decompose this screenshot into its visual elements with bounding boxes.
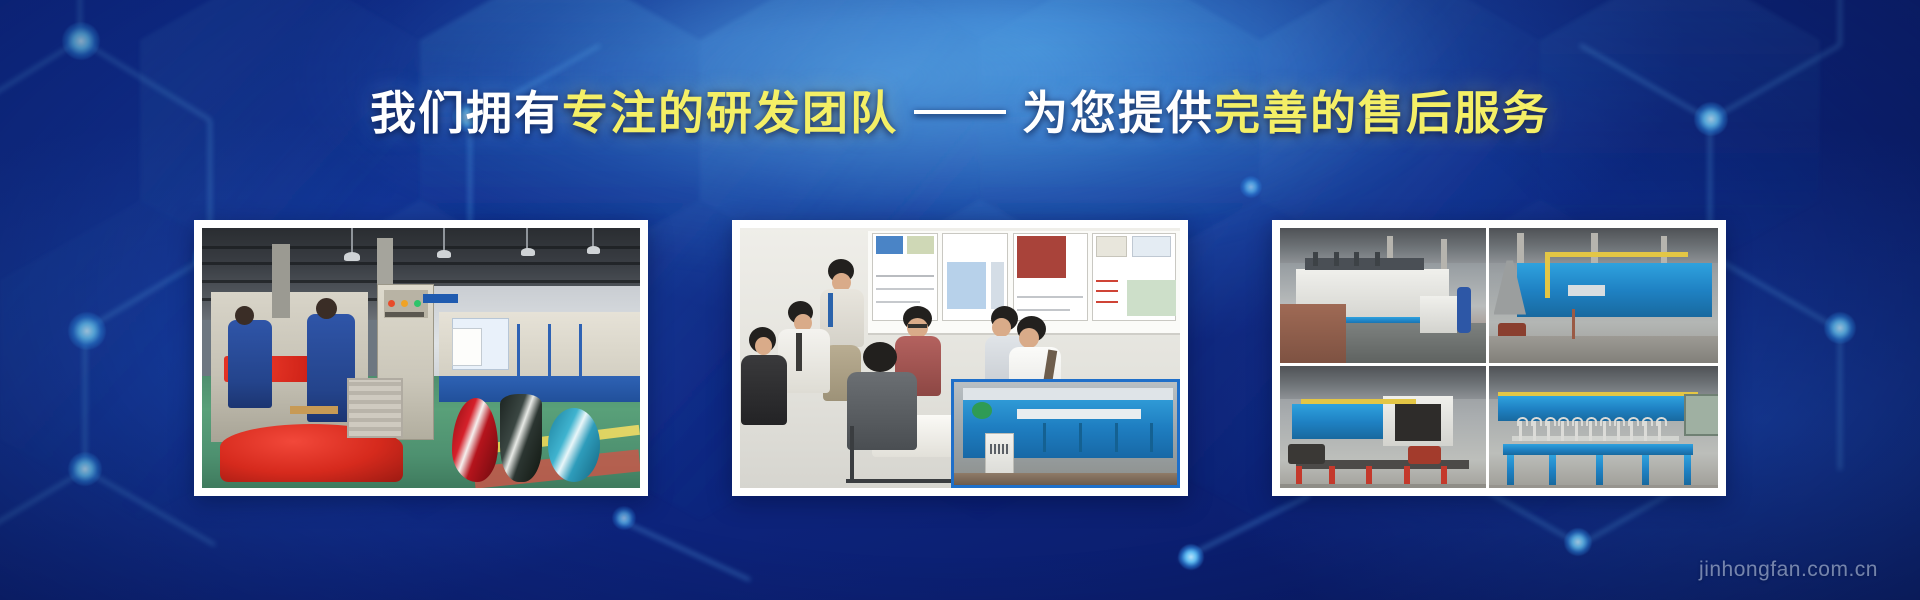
- page-title: 我们拥有专注的研发团队为您提供完善的售后服务: [0, 86, 1920, 141]
- equipment-collage-photo: [1280, 228, 1718, 488]
- factory-production-photo: [202, 228, 640, 488]
- team-meeting-photo: [740, 228, 1180, 488]
- banner-stage: 我们拥有专注的研发团队为您提供完善的售后服务: [0, 0, 1920, 600]
- headline-divider: [914, 110, 1006, 114]
- headline-segment-1: 我们拥有: [370, 87, 562, 139]
- watermark: jinhongfan.com.cn: [1699, 558, 1878, 582]
- machine-inset: [951, 379, 1180, 488]
- headline-segment-3: 为您提供: [1022, 87, 1214, 139]
- headline-segment-2: 专注的研发团队: [562, 87, 898, 139]
- photo-gallery: [0, 220, 1920, 496]
- gallery-panel-3[interactable]: [1272, 220, 1726, 496]
- gallery-panel-2[interactable]: [732, 220, 1188, 496]
- gallery-panel-1[interactable]: [194, 220, 648, 496]
- headline-segment-4: 完善的售后服务: [1214, 87, 1550, 139]
